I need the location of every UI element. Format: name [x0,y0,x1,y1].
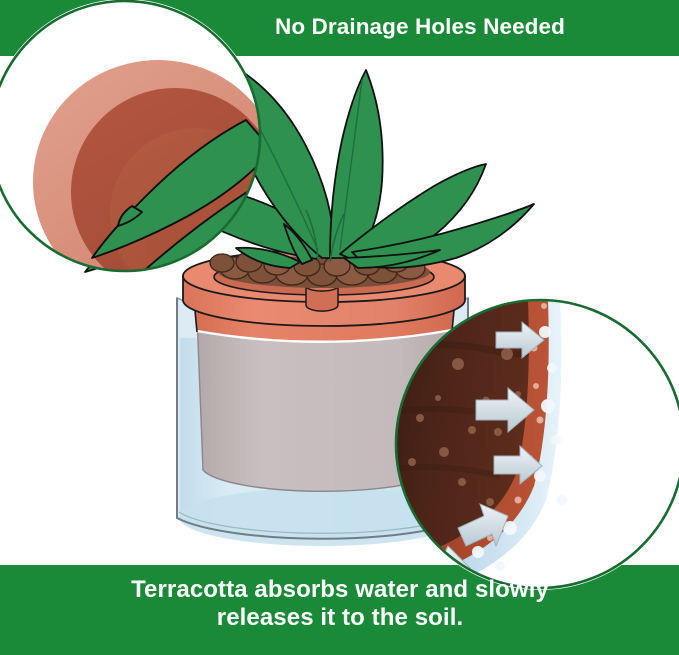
bottom-banner [0,565,679,655]
top-banner [0,0,679,56]
top-banner-background [0,0,679,56]
illustration-canvas [0,0,679,655]
bottom-banner-background [0,565,679,655]
infographic-root: No Drainage Holes Needed Terracotta abso… [0,0,679,655]
pebble [210,254,234,272]
